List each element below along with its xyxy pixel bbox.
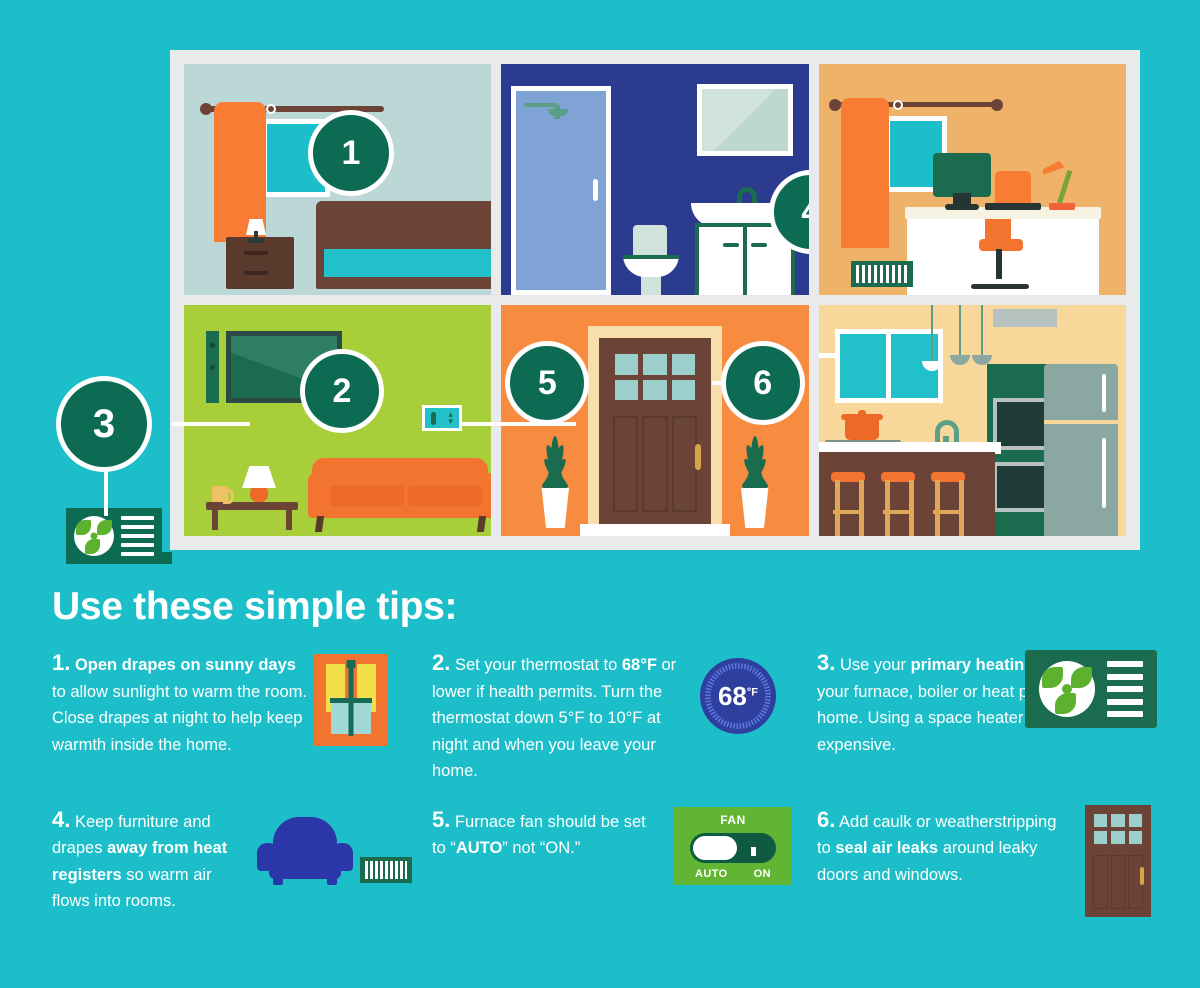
office-drape-icon bbox=[841, 98, 889, 248]
badge-2-left-connector bbox=[172, 422, 250, 426]
tip-5: 5. Furnace fan should be set to “AUTO” n… bbox=[432, 807, 817, 915]
planter-pot-icon bbox=[737, 488, 773, 528]
bar-stool-leg-icon bbox=[959, 480, 964, 536]
thermostat-dial-icon: 68°F bbox=[700, 658, 776, 734]
desk-lamp-base-icon bbox=[1049, 203, 1075, 210]
house-illustration: 1 4 bbox=[170, 50, 1140, 550]
refrigerator-icon bbox=[1044, 364, 1118, 536]
fan-switch-icon[interactable]: FAN AUTO ON bbox=[674, 807, 792, 885]
fan-switch-auto-label: AUTO bbox=[695, 868, 728, 880]
laptop-base-icon bbox=[985, 203, 1041, 210]
thermometer-icon bbox=[431, 412, 436, 425]
fan-switch-on-label: ON bbox=[754, 868, 771, 880]
door-step-icon bbox=[580, 524, 730, 536]
tip-4-number: 4. bbox=[52, 807, 70, 832]
page-title: Use these simple tips: bbox=[52, 585, 457, 629]
fan-icon bbox=[74, 516, 114, 556]
bar-stool-leg-icon bbox=[859, 480, 864, 536]
shower-nozzle-icon bbox=[548, 109, 568, 116]
vent-lines-icon bbox=[1107, 661, 1143, 717]
plant-icon bbox=[531, 428, 579, 492]
tip-3: 3. Use your primary heating source, like… bbox=[817, 650, 1162, 785]
laptop-icon bbox=[995, 171, 1031, 205]
updown-arrows-icon: ▴▾ bbox=[448, 411, 453, 425]
tip-2-plain-1: Set your thermostat to bbox=[455, 656, 622, 674]
room-entry: 5 6 bbox=[501, 305, 808, 536]
bed-mattress-icon bbox=[324, 249, 491, 277]
furnace-icon bbox=[1025, 650, 1157, 728]
toilet-base-icon bbox=[641, 275, 661, 295]
tip-4: 4. Keep furniture and drapes away from h… bbox=[52, 807, 432, 915]
front-door-icon bbox=[1085, 805, 1151, 917]
sofa-leg-icon bbox=[315, 516, 324, 532]
tip-6-number: 6. bbox=[817, 807, 835, 832]
door-panels-icon bbox=[613, 416, 697, 512]
door-handle-icon bbox=[695, 444, 701, 470]
badge-3-connector bbox=[104, 468, 108, 516]
room-bathroom: 4 bbox=[501, 64, 808, 295]
cooking-pot-icon bbox=[845, 418, 879, 440]
bar-stool-leg-icon bbox=[935, 480, 940, 536]
fan-icon bbox=[1039, 661, 1095, 717]
pot-knob-icon bbox=[858, 410, 866, 416]
tip-5-text: 5. Furnace fan should be set to “AUTO” n… bbox=[432, 807, 652, 862]
sofa-cushion-icon bbox=[330, 486, 404, 506]
curtain-rod-knob-icon bbox=[200, 103, 212, 115]
vent-lines-icon bbox=[121, 516, 154, 556]
tip-5-number: 5. bbox=[432, 807, 450, 832]
monitor-base-icon bbox=[945, 204, 979, 210]
pendant-light-icon bbox=[981, 305, 983, 357]
room-bedroom: 1 bbox=[184, 64, 491, 295]
tip-6-text: 6. Add caulk or weatherstripping to seal… bbox=[817, 807, 1069, 889]
tv-speaker-icon bbox=[206, 331, 219, 403]
tip-1-bold-1: Open drapes on sunny days bbox=[75, 656, 296, 674]
nightstand-icon bbox=[226, 237, 294, 289]
room-grid: 1 4 bbox=[184, 64, 1126, 536]
house-badge-2[interactable]: 2 bbox=[300, 349, 384, 433]
coffee-mug-icon bbox=[212, 486, 228, 502]
coffee-table-icon bbox=[206, 502, 298, 510]
refrigerator-divider-icon bbox=[1044, 420, 1118, 424]
bar-stool-leg-icon bbox=[909, 480, 914, 536]
tip-5-plain-2: ” not “ON.” bbox=[502, 839, 580, 857]
shower-handle-icon bbox=[593, 179, 598, 201]
furnace-unit-icon bbox=[66, 508, 162, 564]
tip-2-plain-2: or lower if health permits. Turn the the… bbox=[432, 656, 676, 780]
tip-2-number: 2. bbox=[432, 650, 450, 675]
oven-control-panel-icon bbox=[993, 309, 1057, 327]
shower-door-icon bbox=[511, 86, 611, 295]
tips-grid: 1. Open drapes on sunny days to allow su… bbox=[52, 650, 1162, 915]
toilet-seat-icon bbox=[623, 255, 679, 277]
curtain-rod-knob-icon bbox=[829, 99, 841, 111]
office-chair-post-icon bbox=[996, 249, 1002, 279]
house-badge-3[interactable]: 3 bbox=[56, 376, 152, 472]
heat-register-icon bbox=[851, 261, 913, 287]
fan-switch-title: FAN bbox=[720, 813, 746, 827]
tip-1-text: 1. Open drapes on sunny days to allow su… bbox=[52, 650, 310, 758]
window-drapes-icon bbox=[314, 654, 388, 746]
dial-unit: °F bbox=[747, 686, 758, 698]
tip-6: 6. Add caulk or weatherstripping to seal… bbox=[817, 807, 1162, 915]
living-lamp-shade-icon bbox=[242, 466, 276, 488]
tip-4-text: 4. Keep furniture and drapes away from h… bbox=[52, 807, 242, 915]
coffee-table-leg-icon bbox=[212, 508, 218, 530]
planter-pot-icon bbox=[537, 488, 573, 528]
tip-1: 1. Open drapes on sunny days to allow su… bbox=[52, 650, 432, 785]
tip-2-bold-1: 68°F bbox=[622, 656, 657, 674]
room-office bbox=[819, 64, 1126, 295]
tip-3-plain-1: Use your bbox=[840, 656, 911, 674]
office-chair-legs-icon bbox=[971, 284, 1029, 289]
fan-switch-labels: AUTO ON bbox=[674, 868, 792, 880]
bathroom-mirror-icon bbox=[697, 84, 793, 156]
pendant-light-icon bbox=[931, 305, 933, 363]
front-door-icon bbox=[599, 338, 711, 526]
room-kitchen bbox=[819, 305, 1126, 536]
plant-icon bbox=[731, 428, 779, 492]
dial-temperature: 68°F bbox=[718, 681, 758, 712]
tip-6-bold-1: seal air leaks bbox=[835, 839, 938, 857]
refrigerator-handle-icon bbox=[1102, 438, 1106, 508]
desk-lamp-arm-icon bbox=[1057, 170, 1072, 204]
curtain-ring-icon bbox=[266, 104, 276, 114]
sofa-cushion-icon bbox=[408, 486, 482, 506]
tip-5-bold-1: AUTO bbox=[456, 839, 502, 857]
tip-1-plain-1: to allow sunlight to warm the room. Clos… bbox=[52, 683, 307, 754]
shower-head-icon bbox=[524, 103, 558, 107]
house-badge-1[interactable]: 1 bbox=[308, 110, 394, 196]
wall-thermostat-icon[interactable]: ▴▾ bbox=[422, 405, 462, 431]
tip-2-text: 2. Set your thermostat to 68°F or lower … bbox=[432, 650, 694, 785]
house-badge-5[interactable]: 5 bbox=[505, 341, 589, 425]
door-glass-grid-icon bbox=[615, 354, 695, 400]
fan-switch-ticks bbox=[674, 847, 792, 856]
bar-stool-leg-icon bbox=[885, 480, 890, 536]
tip-2: 2. Set your thermostat to 68°F or lower … bbox=[432, 650, 817, 785]
monitor-icon bbox=[933, 153, 991, 197]
furnace-badge-group: 3 bbox=[56, 376, 176, 536]
curtain-ring-icon bbox=[893, 100, 903, 110]
tip-1-number: 1. bbox=[52, 650, 70, 675]
tip-3-number: 3. bbox=[817, 650, 835, 675]
curtain-rod-knob-icon bbox=[991, 99, 1003, 111]
house-badge-6[interactable]: 6 bbox=[721, 341, 805, 425]
table-lamp-base-icon bbox=[248, 238, 264, 243]
refrigerator-handle-icon bbox=[1102, 374, 1106, 412]
heat-register-icon bbox=[360, 857, 412, 883]
kitchen-island-icon bbox=[819, 452, 995, 536]
armchair-icon bbox=[257, 817, 353, 885]
desk-lamp-shade-icon bbox=[1043, 161, 1065, 175]
bar-stool-leg-icon bbox=[835, 480, 840, 536]
coffee-table-leg-icon bbox=[286, 508, 292, 530]
sofa-leg-icon bbox=[477, 516, 486, 532]
pendant-light-icon bbox=[959, 305, 961, 357]
